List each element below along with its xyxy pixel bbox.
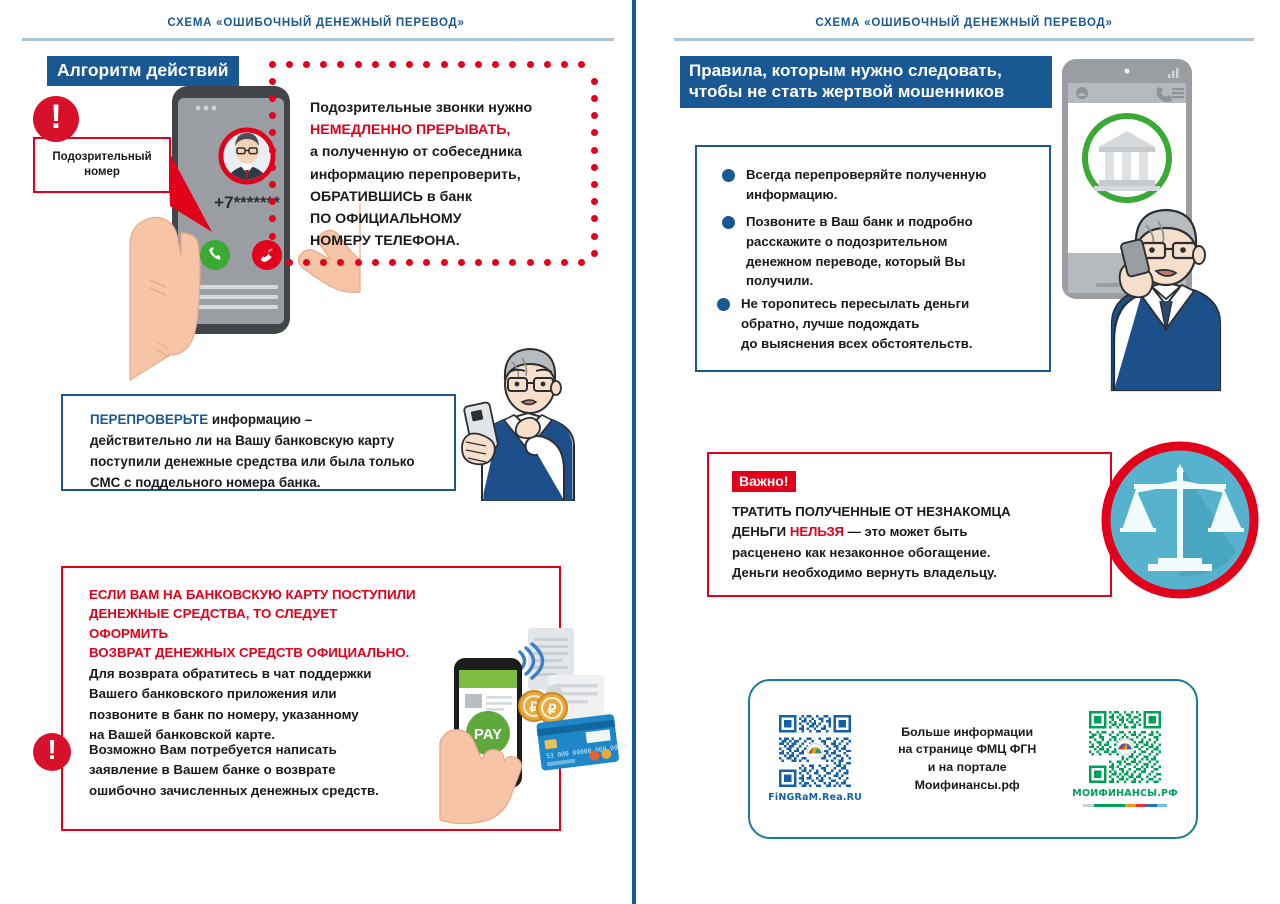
border-dot bbox=[591, 198, 598, 205]
qr-caption-line-2: на странице ФМЦ ФГН bbox=[898, 741, 1036, 759]
callout-line-2: номер bbox=[52, 165, 151, 180]
border-dot bbox=[475, 61, 482, 68]
bank-phone-svg bbox=[1042, 55, 1280, 390]
recheck-line-1: ПЕРЕПРОВЕРЬТЕ информацию – bbox=[90, 409, 450, 430]
refund-p1-line-2: Вашего банковского приложения или bbox=[89, 684, 409, 704]
border-dot bbox=[441, 259, 448, 266]
pay-label: PAY bbox=[474, 726, 502, 743]
rule-text-1: Всегда перепроверяйте полученную информа… bbox=[746, 165, 986, 205]
banner-rules-line-1: Правила, которым нужно следовать, bbox=[689, 61, 1043, 82]
border-dot bbox=[544, 61, 551, 68]
dotted-callout-box: Подозрительные звонки нужно НЕМЕДЛЕННО П… bbox=[272, 64, 594, 262]
border-dot bbox=[389, 61, 396, 68]
border-dot bbox=[423, 61, 430, 68]
recheck-rest: информацию – bbox=[208, 412, 312, 427]
important-line-2-b: — это может быть bbox=[844, 524, 968, 539]
border-dot bbox=[320, 259, 327, 266]
bullet-dot-icon-1 bbox=[722, 169, 735, 182]
border-dot bbox=[492, 259, 499, 266]
qr-code-moifinansy-icon[interactable] bbox=[1089, 711, 1161, 783]
rule-2-line-4: получили. bbox=[746, 273, 813, 288]
important-line-3: расценено как незаконное обогащение. bbox=[732, 543, 1087, 563]
important-box: Важно! ТРАТИТЬ ПОЛУЧЕННЫЕ ОТ НЕЗНАКОМЦА … bbox=[707, 452, 1112, 597]
callout-arrow-icon bbox=[168, 148, 216, 258]
border-dot bbox=[561, 61, 568, 68]
rule-item-2: Позвоните в Ваш банк и подробно расскажи… bbox=[722, 212, 1022, 291]
border-dot bbox=[578, 259, 585, 266]
qr-footer-box: FiNGRaM.Rea.RU Больше информации на стра… bbox=[748, 679, 1198, 839]
border-dot bbox=[591, 164, 598, 171]
qr-caption: Больше информации на странице ФМЦ ФГН и … bbox=[898, 724, 1036, 795]
border-dot bbox=[269, 233, 276, 240]
refund-paragraph-2: Возможно Вам потребуется написать заявле… bbox=[89, 740, 419, 801]
border-dot bbox=[544, 259, 551, 266]
rules-box: Всегда перепроверяйте полученную информа… bbox=[695, 145, 1051, 372]
border-dot bbox=[591, 215, 598, 222]
border-dot bbox=[355, 61, 362, 68]
banner-rules-line-2: чтобы не стать жертвой мошенников bbox=[689, 82, 1043, 103]
important-line-2-red: НЕЛЬЗЯ bbox=[790, 524, 844, 539]
border-dot bbox=[269, 259, 276, 266]
border-dot bbox=[591, 95, 598, 102]
border-dot bbox=[269, 198, 276, 205]
dotted-box-text: Подозрительные звонки нужно НЕМЕДЛЕННО П… bbox=[310, 97, 590, 253]
worried-man-illustration bbox=[452, 300, 617, 500]
important-text: ТРАТИТЬ ПОЛУЧЕННЫЕ ОТ НЕЗНАКОМЦА ДЕНЬГИ … bbox=[732, 502, 1087, 584]
important-tag: Важно! bbox=[732, 471, 796, 492]
qr-caption-line-1: Больше информации bbox=[898, 724, 1036, 742]
border-dot bbox=[441, 61, 448, 68]
moifinansy-wordmark: МОИФИНАНСЫ.РФ bbox=[1072, 788, 1178, 799]
border-dot bbox=[527, 61, 534, 68]
border-dot bbox=[591, 233, 598, 240]
rule-text-2: Позвоните в Ваш банк и подробно расскажи… bbox=[746, 212, 973, 291]
dotted-line-5: ОБРАТИВШИСЬ в банк bbox=[310, 186, 590, 208]
border-dot bbox=[372, 61, 379, 68]
rule-item-3: Не торопитесь пересылать деньги обратно,… bbox=[717, 294, 1027, 353]
border-dot bbox=[269, 129, 276, 136]
refund-heading-line-1: ЕСЛИ ВАМ НА БАНКОВСКУЮ КАРТУ ПОСТУПИЛИ bbox=[89, 585, 419, 604]
dotted-line-3: а полученную от собеседника bbox=[310, 141, 590, 163]
border-dot bbox=[423, 259, 430, 266]
border-dot bbox=[389, 259, 396, 266]
refund-paragraph-1: Для возврата обратитесь в чат поддержки … bbox=[89, 664, 409, 745]
page-title-left: СХЕМА «ОШИБОЧНЫЙ ДЕНЕЖНЫЙ ПЕРЕВОД» bbox=[0, 17, 632, 29]
border-dot bbox=[269, 78, 276, 85]
header-rule-right bbox=[674, 38, 1254, 41]
important-line-4: Деньги необходимо вернуть владельцу. bbox=[732, 563, 1087, 583]
exclamation-glyph-2: ! bbox=[47, 736, 56, 764]
qr-cell-fingram[interactable]: FiNGRaM.Rea.RU bbox=[768, 715, 862, 803]
important-line-1: ТРАТИТЬ ПОЛУЧЕННЫЕ ОТ НЕЗНАКОМЦА bbox=[732, 502, 1087, 522]
important-line-2: ДЕНЬГИ НЕЛЬЗЯ — это может быть bbox=[732, 522, 1087, 542]
bank-phone-illustration bbox=[1042, 55, 1280, 390]
border-dot bbox=[406, 259, 413, 266]
border-dot bbox=[591, 129, 598, 136]
refund-p2-line-2: заявление в Вашем банке о возврате bbox=[89, 760, 419, 780]
border-dot bbox=[337, 61, 344, 68]
border-dot bbox=[591, 112, 598, 119]
recheck-highlight: ПЕРЕПРОВЕРЬТЕ bbox=[90, 412, 208, 427]
border-dot bbox=[591, 147, 598, 154]
rule-2-line-2: расскажите о подозрительном bbox=[746, 234, 947, 249]
border-dot bbox=[372, 259, 379, 266]
rule-2-line-1: Позвоните в Ваш банк и подробно bbox=[746, 214, 973, 229]
rule-3-line-3: до выяснения всех обстоятельств. bbox=[741, 336, 973, 351]
border-dot bbox=[269, 95, 276, 102]
border-dot bbox=[303, 259, 310, 266]
page-divider bbox=[632, 0, 636, 904]
moifinansy-stripes bbox=[1083, 804, 1167, 808]
border-dot bbox=[303, 61, 310, 68]
refund-p1-line-3: позвоните в банк по номеру, указанному bbox=[89, 705, 409, 725]
recheck-text: ПЕРЕПРОВЕРЬТЕ информацию – действительно… bbox=[90, 409, 450, 493]
mobile-payment-svg: PAY ₽ ₽ 53 000 00000 000 00000 bbox=[440, 620, 625, 820]
dotted-line-7: НОМЕРУ ТЕЛЕФОНА. bbox=[310, 230, 590, 252]
border-dot bbox=[320, 61, 327, 68]
border-dot bbox=[337, 259, 344, 266]
fingram-wordmark: FiNGRaM.Rea.RU bbox=[768, 792, 862, 803]
dotted-line-4: информацию перепроверить, bbox=[310, 164, 590, 186]
bullet-dot-icon-3 bbox=[717, 298, 730, 311]
border-dot bbox=[492, 61, 499, 68]
important-line-2-a: ДЕНЬГИ bbox=[732, 524, 790, 539]
rule-3-line-2: обратно, лучше подождать bbox=[741, 316, 919, 331]
border-dot bbox=[269, 112, 276, 119]
refund-heading: ЕСЛИ ВАМ НА БАНКОВСКУЮ КАРТУ ПОСТУПИЛИ Д… bbox=[89, 585, 419, 662]
mobile-payment-illustration: PAY ₽ ₽ 53 000 00000 000 00000 bbox=[440, 620, 625, 820]
rule-text-3: Не торопитесь пересылать деньги обратно,… bbox=[741, 294, 973, 353]
border-dot bbox=[269, 250, 276, 257]
border-dot bbox=[269, 215, 276, 222]
border-dot bbox=[509, 61, 516, 68]
border-dot bbox=[269, 181, 276, 188]
rule-2-line-3: денежном переводе, который Вы bbox=[746, 254, 965, 269]
menu-icon bbox=[1172, 88, 1184, 98]
page-title-right: СХЕМА «ОШИБОЧНЫЙ ДЕНЕЖНЫЙ ПЕРЕВОД» bbox=[648, 17, 1280, 29]
rule-1-line-2: информацию. bbox=[746, 187, 837, 202]
border-dot bbox=[591, 181, 598, 188]
border-dot bbox=[269, 61, 276, 68]
qr-code-fingram-icon[interactable] bbox=[779, 715, 851, 787]
border-dot bbox=[458, 259, 465, 266]
exclamation-icon-2: ! bbox=[33, 733, 71, 771]
qr-caption-line-3: и на портале bbox=[898, 759, 1036, 777]
exclamation-icon-1: ! bbox=[33, 96, 79, 142]
refund-heading-line-3: ВОЗВРАТ ДЕНЕЖНЫХ СРЕДСТВ ОФИЦИАЛЬНО. bbox=[89, 643, 419, 662]
callout-line-1: Подозрительный bbox=[52, 150, 151, 165]
border-dot bbox=[286, 61, 293, 68]
dotted-line-1: Подозрительные звонки нужно bbox=[310, 97, 590, 119]
border-dot bbox=[355, 259, 362, 266]
refund-heading-line-2: ДЕНЕЖНЫЕ СРЕДСТВА, ТО СЛЕДУЕТ ОФОРМИТЬ bbox=[89, 604, 419, 643]
qr-cell-moifinansy[interactable]: МОИФИНАНСЫ.РФ bbox=[1072, 711, 1178, 808]
border-dot bbox=[269, 147, 276, 154]
border-dot bbox=[509, 259, 516, 266]
exclamation-glyph: ! bbox=[50, 100, 61, 134]
recheck-line-4: СМС с поддельного номера банка. bbox=[90, 472, 450, 493]
border-dot bbox=[475, 259, 482, 266]
border-dot bbox=[561, 259, 568, 266]
banner-rules: Правила, которым нужно следовать, чтобы … bbox=[680, 56, 1052, 108]
border-dot bbox=[269, 164, 276, 171]
rule-3-line-1: Не торопитесь пересылать деньги bbox=[741, 296, 969, 311]
recheck-line-3: поступили денежные средства или была тол… bbox=[90, 451, 450, 472]
recheck-line-2: действительно ли на Вашу банковскую карт… bbox=[90, 430, 450, 451]
rule-item-1: Всегда перепроверяйте полученную информа… bbox=[722, 165, 1022, 205]
border-dot bbox=[527, 259, 534, 266]
border-dot bbox=[458, 61, 465, 68]
dotted-line-6: ПО ОФИЦИАЛЬНОМУ bbox=[310, 208, 590, 230]
recheck-info-box: ПЕРЕПРОВЕРЬТЕ информацию – действительно… bbox=[61, 394, 456, 491]
scales-badge-svg bbox=[1100, 440, 1260, 600]
scales-of-justice-badge bbox=[1100, 440, 1260, 600]
border-dot bbox=[591, 78, 598, 85]
suspicious-number-callout: Подозрительный номер bbox=[33, 137, 171, 193]
worried-man-svg bbox=[452, 300, 617, 500]
border-dot bbox=[286, 259, 293, 266]
header-rule-left bbox=[22, 38, 614, 41]
svg-text:₽: ₽ bbox=[548, 701, 557, 717]
rule-1-line-1: Всегда перепроверяйте полученную bbox=[746, 167, 986, 182]
refund-p2-line-3: ошибочно зачисленных денежных средств. bbox=[89, 781, 419, 801]
bullet-dot-icon-2 bbox=[722, 216, 735, 229]
left-page: СХЕМА «ОШИБОЧНЫЙ ДЕНЕЖНЫЙ ПЕРЕВОД» Алгор… bbox=[0, 0, 632, 904]
refund-p2-line-1: Возможно Вам потребуется написать bbox=[89, 740, 419, 760]
qr-caption-line-4: Моифинансы.рф bbox=[898, 777, 1036, 795]
border-dot bbox=[578, 61, 585, 68]
border-dot bbox=[591, 250, 598, 257]
border-dot bbox=[406, 61, 413, 68]
dotted-line-2: НЕМЕДЛЕННО ПРЕРЫВАТЬ, bbox=[310, 119, 590, 141]
refund-p1-line-1: Для возврата обратитесь в чат поддержки bbox=[89, 664, 409, 684]
